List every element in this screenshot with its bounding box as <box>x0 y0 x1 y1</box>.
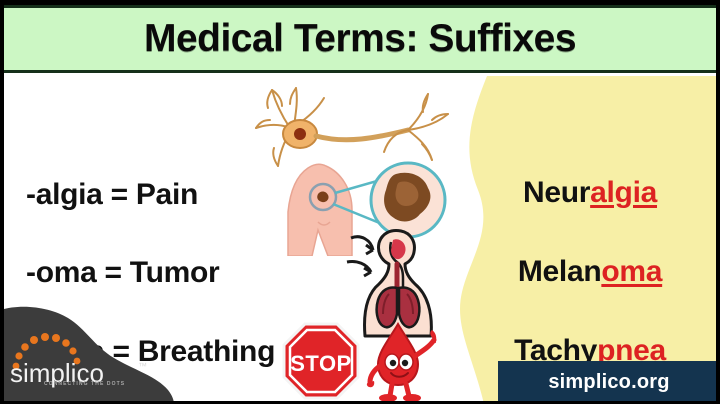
example-terms-column: Neuralgia Melanoma Tachypnea Homestasis <box>460 76 720 404</box>
term-suffix: oma <box>601 255 662 288</box>
term-root: Neur <box>523 176 590 209</box>
example-term-melanoma: Melanoma <box>460 255 720 289</box>
title-banner: Medical Terms: Suffixes <box>4 5 716 73</box>
site-url-banner[interactable]: simplico.org <box>498 361 720 404</box>
slide-canvas: STOP Medical Terms: Suffixes -algia = Pa… <box>0 0 720 404</box>
page-title: Medical Terms: Suffixes <box>144 17 576 61</box>
site-url-text: simplico.org <box>548 371 669 394</box>
term-suffix: algia <box>590 176 657 209</box>
example-term-neuralgia: Neuralgia <box>460 176 720 210</box>
term-root: Melan <box>518 255 602 288</box>
logo-tagline: CONNECTING THE DOTS <box>44 381 125 387</box>
suffix-definition-oma: -oma = Tumor <box>26 256 219 290</box>
simplico-logo-blob <box>0 304 175 404</box>
suffix-definition-algia: -algia = Pain <box>26 178 198 212</box>
logo-trademark-icon: ™ <box>138 361 147 371</box>
